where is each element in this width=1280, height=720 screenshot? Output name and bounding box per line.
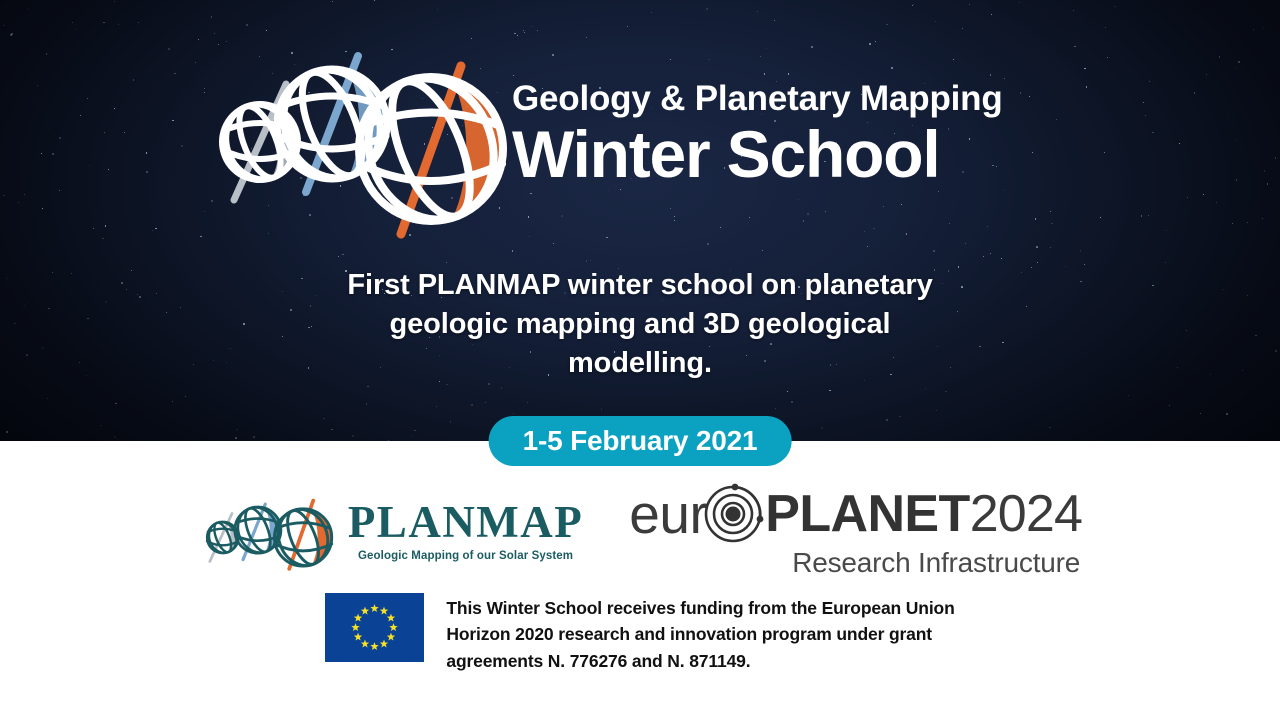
funding-disclaimer: This Winter School receives funding from… bbox=[0, 593, 1280, 674]
atom-orbit-icon bbox=[697, 483, 769, 545]
hero-title-block: Geology & Planetary Mapping Winter Schoo… bbox=[512, 80, 1003, 190]
europlanet-prefix: eur bbox=[629, 487, 707, 542]
three-globes-icon bbox=[198, 44, 508, 244]
europlanet-subtitle: Research Infrastructure bbox=[792, 547, 1080, 579]
footer-section: PLANMAP Geologic Mapping of our Solar Sy… bbox=[0, 441, 1280, 720]
poster-canvas: Geology & Planetary Mapping Winter Schoo… bbox=[0, 0, 1280, 720]
europlanet-name: PLANET bbox=[765, 488, 969, 540]
planmap-wordmark: PLANMAP Geologic Mapping of our Solar Sy… bbox=[348, 500, 583, 562]
sponsor-logo-row: PLANMAP Geologic Mapping of our Solar Sy… bbox=[0, 485, 1280, 577]
hero-subtitle-line1: First PLANMAP winter school on planetary bbox=[0, 266, 1280, 305]
european-union-flag-icon bbox=[325, 593, 424, 662]
europlanet-logo[interactable]: eur bbox=[629, 483, 1082, 579]
planmap-globes-icon bbox=[198, 495, 338, 567]
hero-subtitle-line3: modelling. bbox=[0, 344, 1280, 383]
hero-subtitle: First PLANMAP winter school on planetary… bbox=[0, 266, 1280, 383]
event-date-badge: 1-5 February 2021 bbox=[489, 416, 792, 466]
funding-line1: This Winter School receives funding from… bbox=[446, 595, 954, 621]
hero-section: Geology & Planetary Mapping Winter Schoo… bbox=[0, 0, 1280, 441]
planmap-name: PLANMAP bbox=[348, 500, 583, 545]
funding-line3: agreements N. 776276 and N. 871149. bbox=[446, 648, 954, 674]
planmap-logo[interactable]: PLANMAP Geologic Mapping of our Solar Sy… bbox=[198, 495, 583, 567]
hero-subtitle-line2: geologic mapping and 3D geological bbox=[0, 305, 1280, 344]
europlanet-year: 2024 bbox=[970, 488, 1082, 540]
funding-text: This Winter School receives funding from… bbox=[446, 593, 954, 674]
page-title-line1: Geology & Planetary Mapping bbox=[512, 80, 1003, 118]
page-title-line2: Winter School bbox=[512, 120, 1003, 190]
planmap-tagline: Geologic Mapping of our Solar System bbox=[358, 550, 573, 562]
europlanet-wordmark: eur bbox=[629, 483, 1082, 545]
funding-line2: Horizon 2020 research and innovation pro… bbox=[446, 621, 954, 647]
